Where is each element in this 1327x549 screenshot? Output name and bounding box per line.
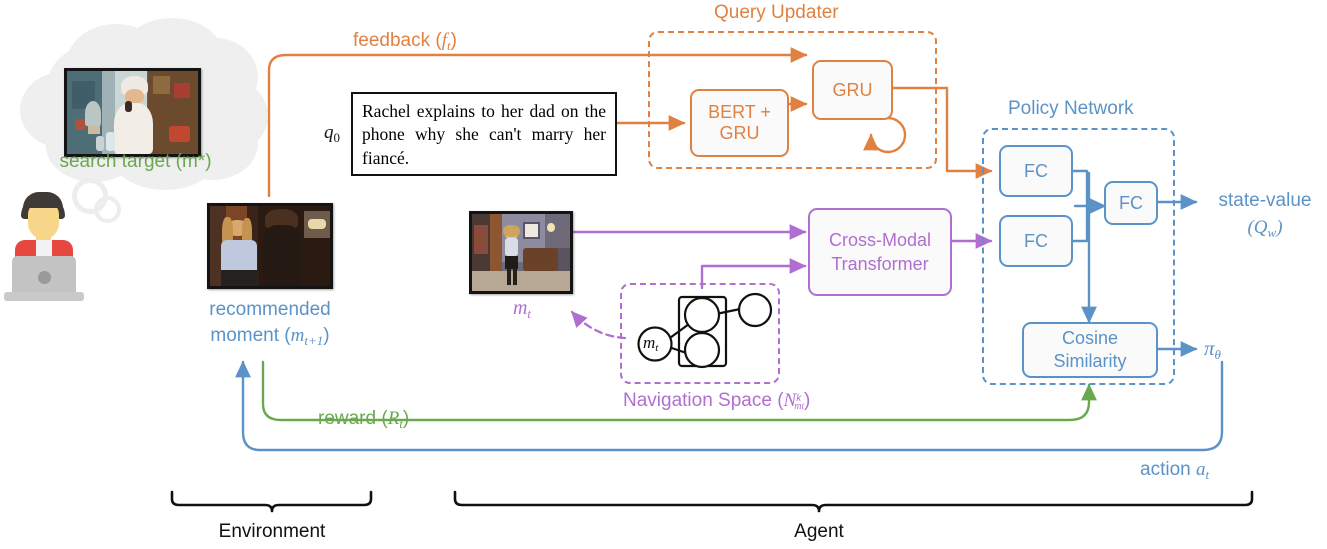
thought-bubble-small-2 — [94, 196, 121, 223]
agent-bracket-label: Agent — [719, 521, 919, 543]
reward-edge-label: reward (Rt) — [318, 408, 409, 432]
fc-merge-block[interactable]: FC — [1104, 181, 1158, 225]
search-target-label: search target (m*) — [28, 151, 243, 173]
recommended-moment-thumbnail — [207, 203, 333, 289]
fc-bottom-block[interactable]: FC — [999, 215, 1073, 267]
query-updater-title: Query Updater — [714, 2, 839, 24]
cross-modal-transformer-block[interactable]: Cross-Modal Transformer — [808, 208, 952, 296]
bert-gru-line1: BERT + — [708, 102, 771, 123]
search-target-thumbnail — [64, 68, 201, 157]
query-symbol: q0 — [324, 122, 340, 146]
navigation-space-title: Navigation Space (Nkmt) — [623, 390, 810, 413]
state-value-label-line1: state-value — [1203, 190, 1327, 212]
gru-label: GRU — [833, 80, 873, 101]
fc-merge-label: FC — [1119, 193, 1143, 214]
fc-top-label: FC — [1024, 161, 1048, 182]
feedback-edge-label: feedback (ft) — [353, 30, 457, 54]
cosine-line2: Similarity — [1053, 350, 1126, 373]
edge-navspace-to-moment-dashed — [572, 312, 625, 338]
cosine-similarity-block[interactable]: Cosine Similarity — [1022, 322, 1158, 378]
gru-block[interactable]: GRU — [812, 60, 893, 120]
navigation-space-group — [620, 283, 780, 384]
policy-output-label: πθ — [1204, 336, 1221, 363]
policy-network-title: Policy Network — [1008, 98, 1134, 120]
fc-top-block[interactable]: FC — [999, 145, 1073, 197]
transformer-line1: Cross-Modal — [829, 228, 931, 252]
fc-bottom-label: FC — [1024, 231, 1048, 252]
diagram-canvas: search target (m*) recommended moment (m… — [0, 0, 1327, 549]
current-moment-label: mt — [470, 297, 574, 322]
current-moment-thumbnail — [469, 211, 573, 294]
bert-gru-line2: GRU — [720, 123, 760, 144]
cosine-line1: Cosine — [1062, 327, 1118, 350]
bracket-agent — [455, 492, 1252, 511]
recommended-moment-label-line1: recommended — [180, 299, 360, 321]
query-textbox: Rachel explains to her dad on the phone … — [351, 92, 617, 176]
transformer-line2: Transformer — [831, 252, 928, 276]
environment-bracket-label: Environment — [172, 521, 372, 543]
state-value-label-line2: (Qw) — [1203, 217, 1327, 241]
bert-gru-block[interactable]: BERT + GRU — [690, 89, 789, 157]
action-edge-label: action at — [1140, 459, 1209, 483]
recommended-moment-label-line2: moment (mt+1) — [180, 325, 360, 349]
bracket-environment — [172, 492, 371, 511]
